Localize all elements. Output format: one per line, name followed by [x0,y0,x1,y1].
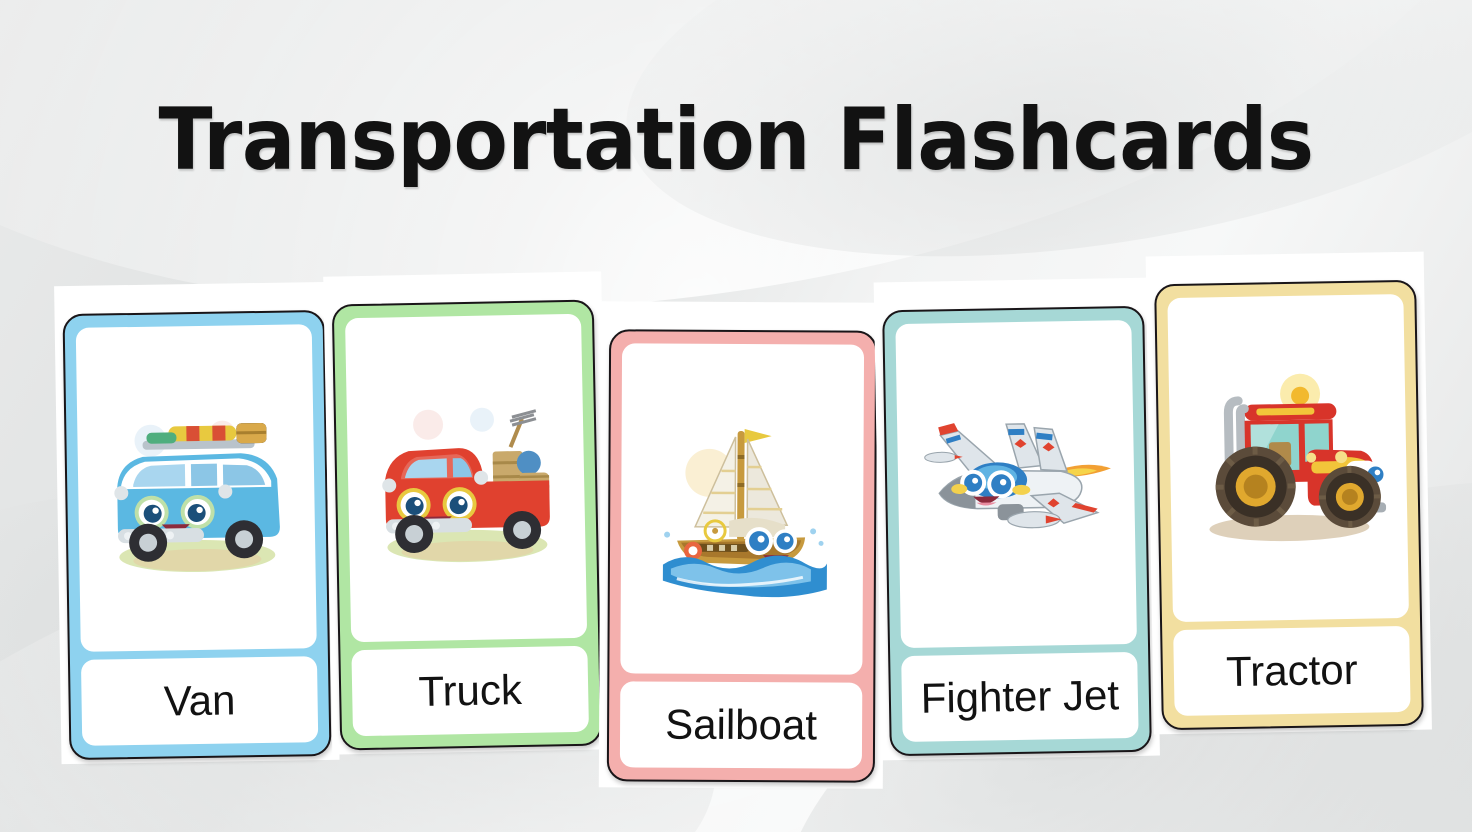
flashcard-truck[interactable]: Truck [332,300,603,751]
truck-illustration [359,376,573,580]
card-art-pane [1167,294,1409,622]
card-label-pane: Sailboat [620,681,862,768]
tractor-illustration [1181,356,1394,560]
card-label: Sailboat [665,702,817,749]
card-frame[interactable]: Fighter Jet [882,306,1152,757]
sailboat-illustration [637,408,848,609]
flashcard-fighter-jet[interactable]: Fighter Jet [882,306,1152,757]
flashcard-van[interactable]: Van [63,310,332,760]
van-illustration [90,386,303,589]
card-label-pane: Truck [351,646,589,737]
card-label-pane: Fighter Jet [901,652,1138,742]
card-art-pane [76,324,317,652]
flashcard-deck: Van [0,0,1472,832]
card-frame[interactable]: Sailboat [607,329,877,782]
card-label: Truck [418,667,522,715]
card-label: Van [163,677,235,724]
card-label-pane: Van [81,656,318,746]
card-frame[interactable]: Tractor [1154,280,1424,731]
card-art-pane [620,343,864,674]
card-label: Fighter Jet [920,672,1119,721]
card-frame[interactable]: Truck [332,300,603,751]
flashcard-tractor[interactable]: Tractor [1154,280,1424,731]
card-frame[interactable]: Van [63,310,332,760]
card-art-pane [345,314,587,642]
card-label-pane: Tractor [1173,626,1410,716]
fighter-jet-illustration [909,382,1122,586]
flashcard-sailboat[interactable]: Sailboat [607,329,877,776]
card-art-pane [895,320,1137,648]
card-label: Tractor [1226,647,1358,695]
flashcard-poster: Transportation Flashcards [0,0,1472,832]
